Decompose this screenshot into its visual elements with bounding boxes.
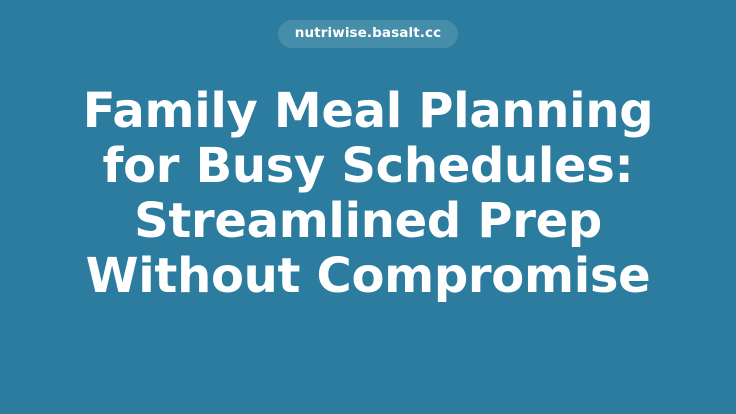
headline-line-1: Family Meal Planning bbox=[48, 84, 688, 139]
domain-badge-label: nutriwise.basalt.cc bbox=[295, 27, 441, 41]
headline-line-3: Streamlined Prep bbox=[48, 194, 688, 249]
headline-line-2: for Busy Schedules: bbox=[48, 139, 688, 194]
social-share-card: nutriwise.basalt.cc Family Meal Planning… bbox=[0, 0, 736, 414]
page-title: Family Meal Planning for Busy Schedules:… bbox=[48, 84, 688, 304]
headline-line-4: Without Compromise bbox=[48, 249, 688, 304]
domain-badge: nutriwise.basalt.cc bbox=[278, 20, 458, 48]
